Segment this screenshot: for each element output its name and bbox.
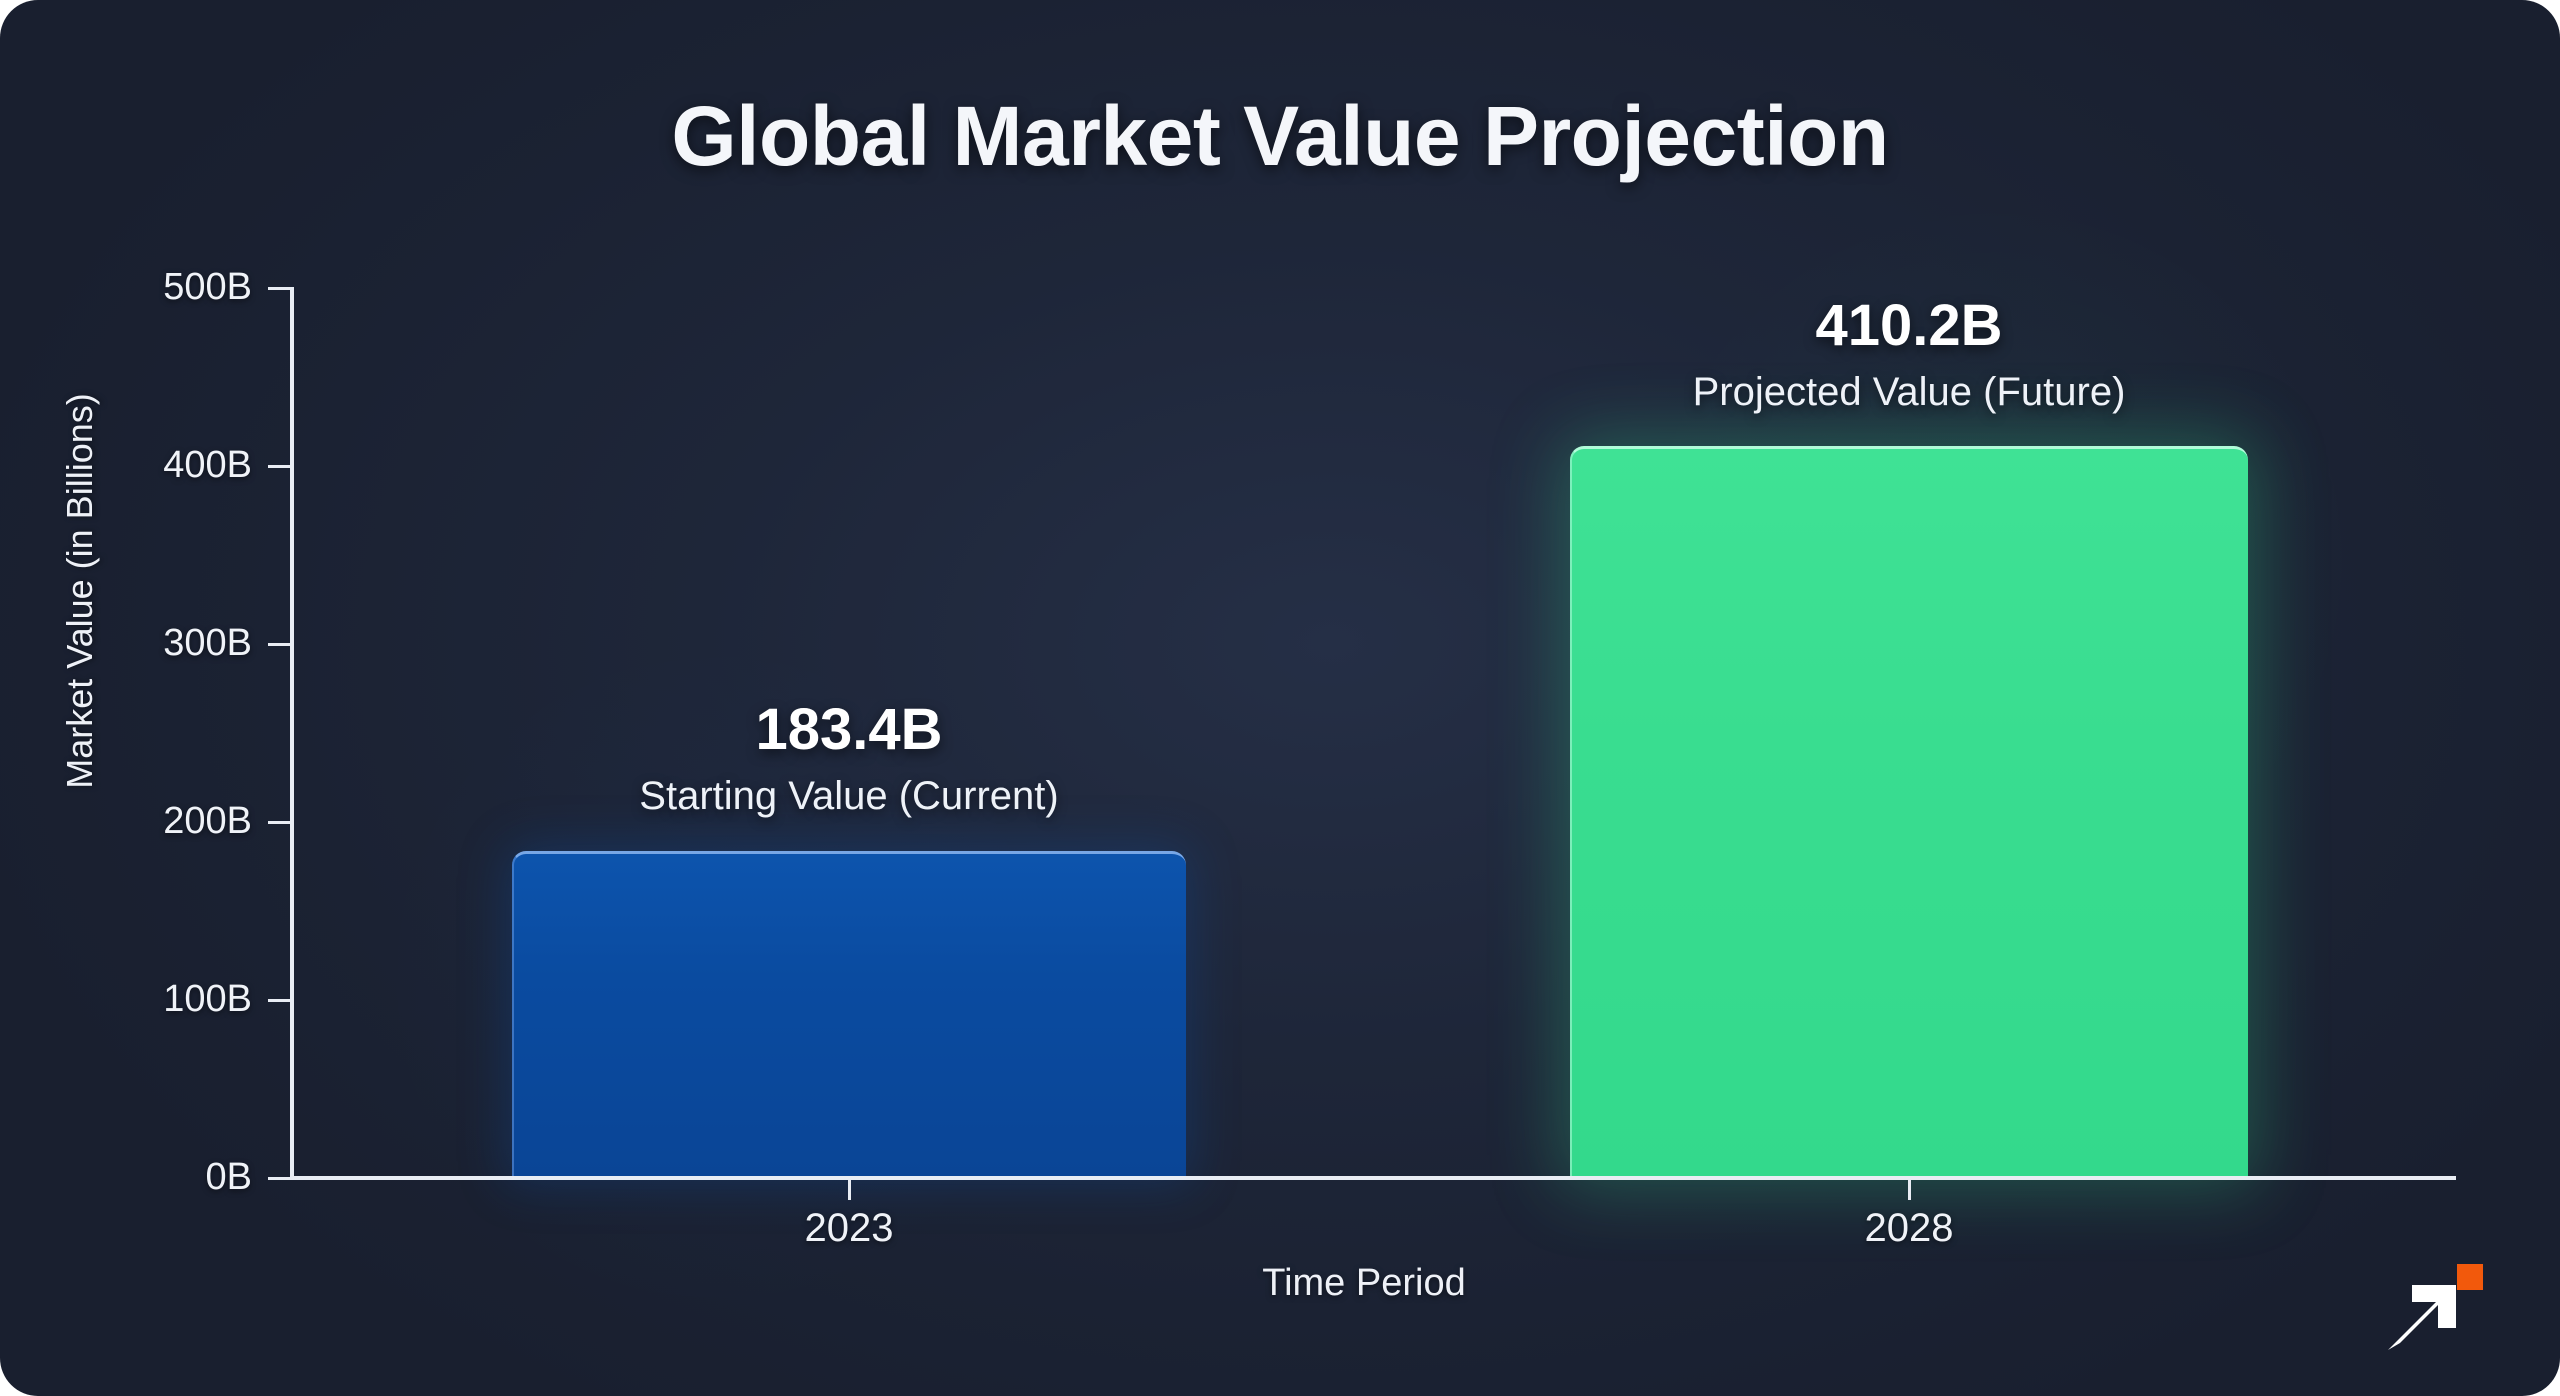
x-tick-label-2028: 2028 [1699, 1206, 2119, 1251]
y-axis-title: Market Value (in Billions) [59, 361, 101, 821]
x-tick-mark-2028 [1908, 1178, 1911, 1200]
bar-caption-label-2028: Projected Value (Future) [1570, 367, 2248, 417]
bar-value-label-2023: 183.4B [512, 700, 1186, 761]
brand-logo[interactable] [2378, 1262, 2488, 1362]
y-tick-mark [268, 465, 292, 468]
y-tick-label-0: 0B [0, 1156, 252, 1199]
bar-2028[interactable] [1570, 446, 2248, 1178]
x-axis-title: Time Period [0, 1262, 2560, 1305]
y-axis-line [290, 287, 294, 1178]
x-tick-label-2023: 2023 [639, 1206, 1059, 1251]
bar-annotation-2028: 410.2B Projected Value (Future) [1570, 296, 2248, 417]
chart-title: Global Market Value Projection [0, 88, 2560, 185]
y-tick-mark [268, 287, 292, 290]
bar-value-label-2028: 410.2B [1570, 296, 2248, 357]
x-axis-line [292, 1176, 2456, 1180]
bar-annotation-2023: 183.4B Starting Value (Current) [512, 700, 1186, 821]
orange-square-icon [2457, 1264, 2483, 1290]
y-tick-label-200: 200B [0, 800, 252, 843]
y-tick-label-100: 100B [0, 978, 252, 1021]
arrow-up-right-icon [2388, 1285, 2456, 1350]
logo-svg [2378, 1262, 2488, 1362]
y-tick-mark [268, 999, 292, 1002]
y-tick-label-500: 500B [0, 266, 252, 309]
y-tick-label-300: 300B [0, 622, 252, 665]
bar-2023[interactable] [512, 851, 1186, 1178]
y-tick-label-400: 400B [0, 444, 252, 487]
chart-canvas: Global Market Value Projection Market Va… [0, 0, 2560, 1396]
y-tick-mark [268, 1177, 292, 1180]
y-tick-mark [268, 643, 292, 646]
bar-caption-label-2023: Starting Value (Current) [512, 771, 1186, 821]
y-tick-mark [268, 821, 292, 824]
x-tick-mark-2023 [848, 1178, 851, 1200]
